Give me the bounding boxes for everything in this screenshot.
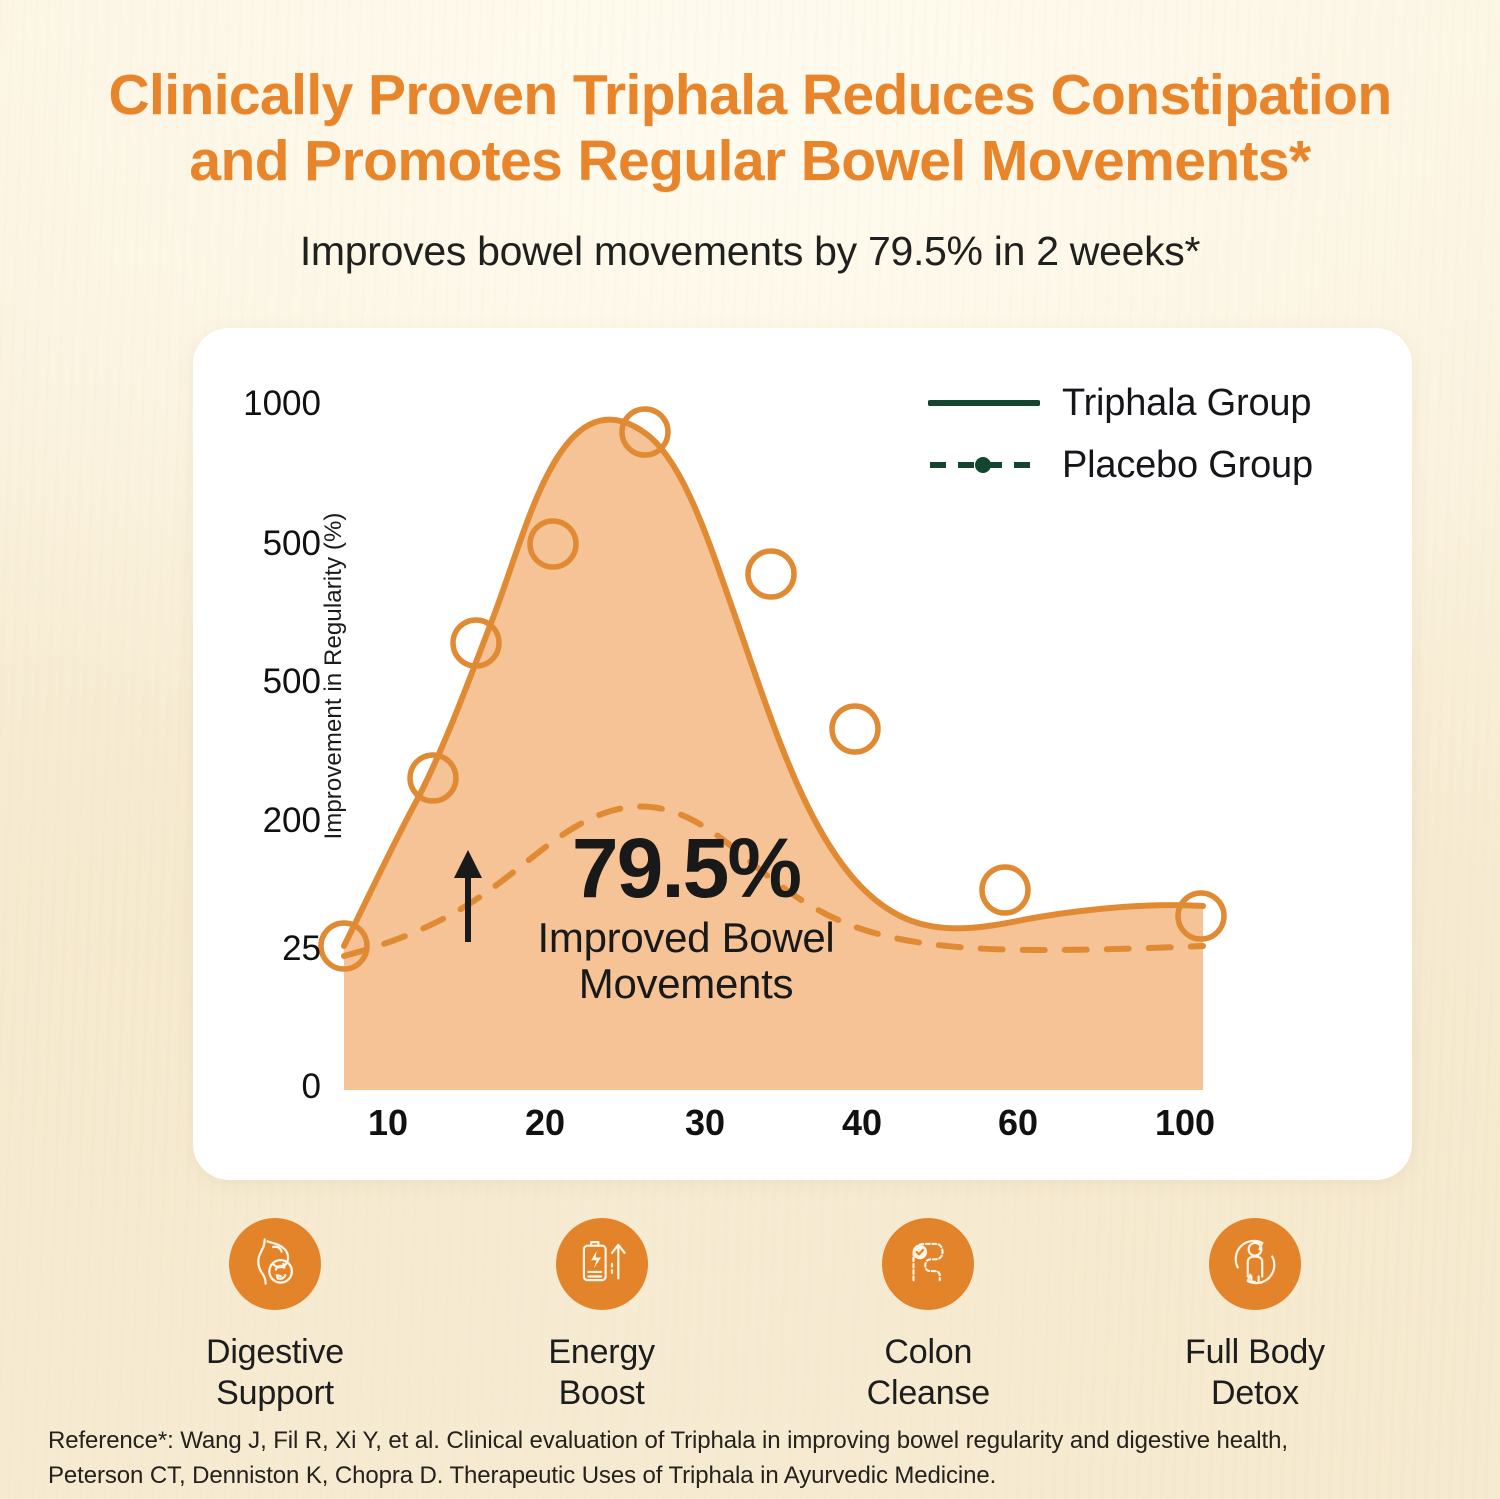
y-axis-title: Improvement in Regularity (%) bbox=[320, 506, 348, 846]
reference-line-1: Reference*: Wang J, Fil R, Xi Y, et al. … bbox=[48, 1424, 1458, 1459]
benefit-label-line-1: Colon bbox=[884, 1333, 972, 1371]
x-tick-label: 30 bbox=[645, 1102, 765, 1144]
chart-card: Improvement in Regularity (%) 1000 500 5… bbox=[193, 328, 1412, 1180]
chart-legend: Triphala Group Placebo Group bbox=[928, 372, 1313, 496]
benefit-badge bbox=[1209, 1218, 1301, 1310]
page-title-line-2: and Promotes Regular Bowel Movements* bbox=[34, 128, 1466, 194]
legend-item-triphala[interactable]: Triphala Group bbox=[928, 372, 1313, 434]
colon-check-icon bbox=[899, 1233, 957, 1296]
benefit-label-line-2: Detox bbox=[1211, 1374, 1299, 1412]
benefit-label-line-1: Energy bbox=[548, 1333, 655, 1371]
callout-caption-line-2: Movements bbox=[579, 960, 793, 1007]
page-title-line-1: Clinically Proven Triphala Reduces Const… bbox=[34, 62, 1466, 128]
legend-label-placebo: Placebo Group bbox=[1062, 444, 1313, 487]
x-tick-label: 60 bbox=[958, 1102, 1078, 1144]
y-tick-label: 200 bbox=[193, 801, 321, 841]
digestive-stomach-icon bbox=[245, 1232, 305, 1297]
callout-caption-line-1: Improved Bowel bbox=[538, 914, 835, 961]
y-tick-label: 25 bbox=[193, 929, 321, 969]
benefit-full-body-detox[interactable]: Full Body Detox bbox=[1130, 1218, 1380, 1415]
callout-caption: Improved Bowel Movements bbox=[451, 915, 921, 1007]
x-tick-label: 40 bbox=[802, 1102, 922, 1144]
data-point-marker bbox=[748, 551, 794, 597]
benefit-badge bbox=[556, 1218, 648, 1310]
data-point-marker bbox=[982, 867, 1028, 913]
benefit-label-line-2: Cleanse bbox=[867, 1374, 990, 1412]
benefits-row: Digestive Support bbox=[150, 1218, 1380, 1415]
benefit-energy-boost[interactable]: Energy Boost bbox=[477, 1218, 727, 1415]
benefit-label: Full Body Detox bbox=[1185, 1332, 1325, 1415]
benefit-colon-cleanse[interactable]: Colon Cleanse bbox=[803, 1218, 1053, 1415]
y-tick-label: 0 bbox=[193, 1067, 321, 1107]
page-title: Clinically Proven Triphala Reduces Const… bbox=[0, 62, 1500, 194]
y-tick-label: 500 bbox=[193, 662, 321, 702]
legend-label-triphala: Triphala Group bbox=[1062, 382, 1311, 425]
benefit-label-line-2: Boost bbox=[559, 1374, 645, 1412]
benefit-label: Colon Cleanse bbox=[867, 1332, 990, 1415]
x-tick-label: 100 bbox=[1125, 1102, 1245, 1144]
y-tick-label: 500 bbox=[193, 524, 321, 564]
benefit-label: Energy Boost bbox=[548, 1332, 655, 1415]
dashed-line-dot-icon bbox=[928, 454, 1040, 476]
page-subtitle: Improves bowel movements by 79.5% in 2 w… bbox=[0, 228, 1500, 275]
benefit-badge bbox=[882, 1218, 974, 1310]
benefit-digestive-support[interactable]: Digestive Support bbox=[150, 1218, 400, 1415]
benefit-label-line-1: Full Body bbox=[1185, 1333, 1325, 1371]
infographic-stage: Clinically Proven Triphala Reduces Const… bbox=[0, 0, 1500, 1499]
x-tick-label: 20 bbox=[485, 1102, 605, 1144]
benefit-badge bbox=[229, 1218, 321, 1310]
legend-item-placebo[interactable]: Placebo Group bbox=[928, 434, 1313, 496]
benefit-label-line-1: Digestive bbox=[206, 1333, 344, 1371]
benefit-label: Digestive Support bbox=[206, 1332, 344, 1415]
benefit-label-line-2: Support bbox=[216, 1374, 334, 1412]
energy-battery-icon bbox=[573, 1233, 631, 1296]
reference-note: Reference*: Wang J, Fil R, Xi Y, et al. … bbox=[48, 1424, 1458, 1494]
y-tick-label: 1000 bbox=[193, 384, 321, 424]
highlight-callout: 79.5% Improved Bowel Movements bbox=[451, 828, 921, 1007]
callout-value: 79.5% bbox=[451, 828, 921, 909]
reference-line-2: Peterson CT, Denniston K, Chopra D. Ther… bbox=[48, 1459, 1458, 1494]
x-tick-label: 10 bbox=[328, 1102, 448, 1144]
data-point-marker bbox=[832, 706, 878, 752]
full-body-detox-icon bbox=[1226, 1233, 1284, 1296]
solid-line-icon bbox=[928, 392, 1040, 414]
